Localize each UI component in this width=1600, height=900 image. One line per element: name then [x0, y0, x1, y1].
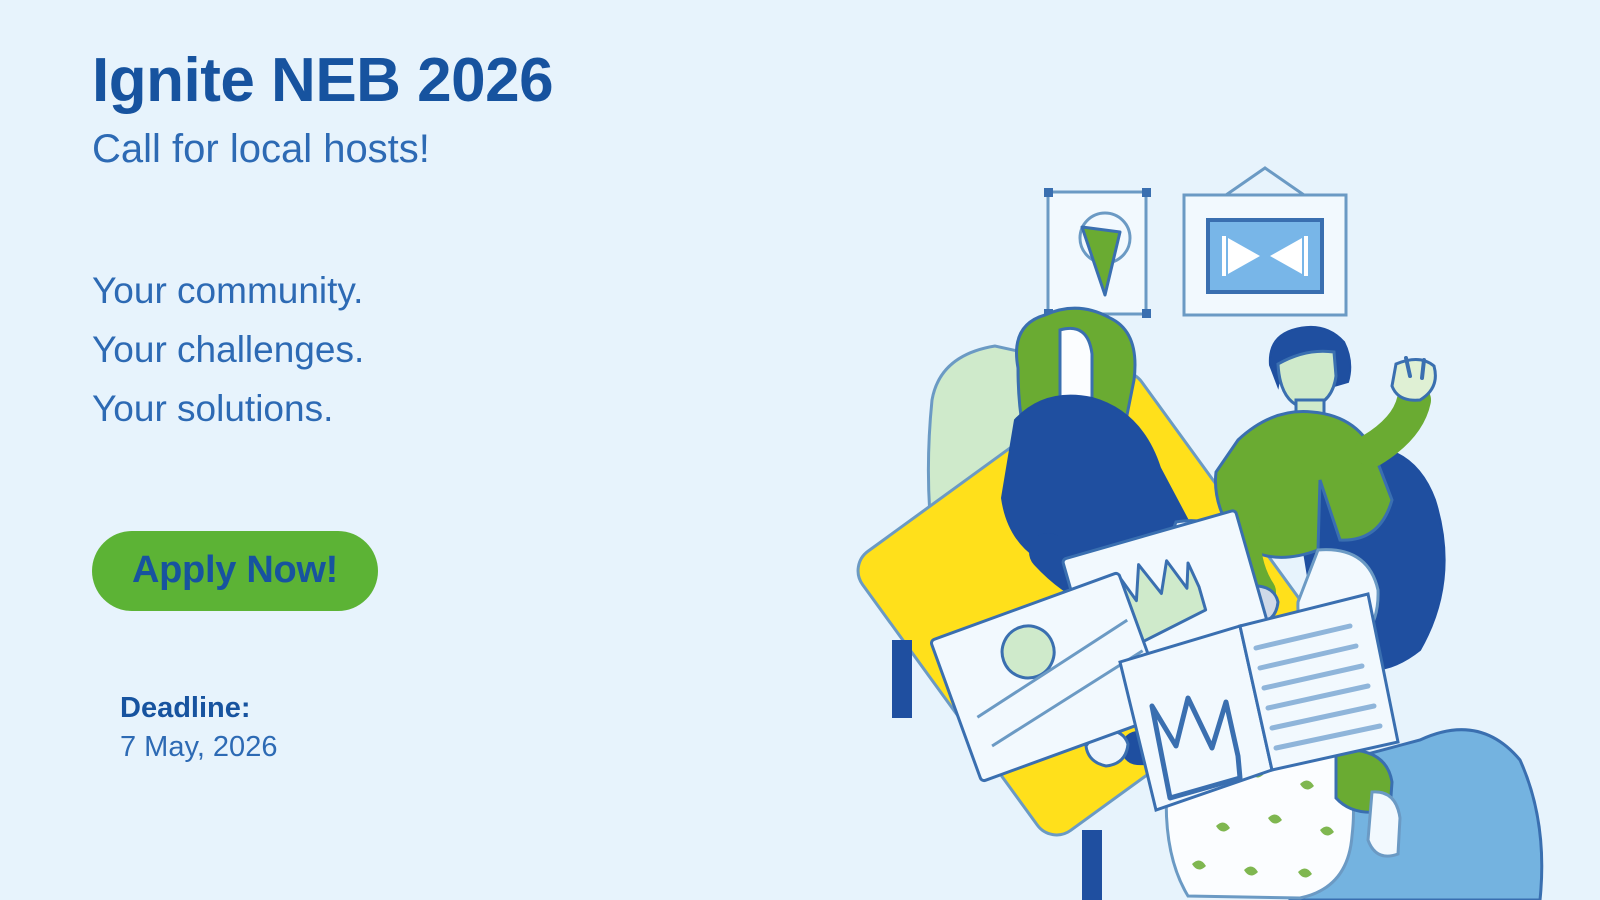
pinned-poster-icon — [1044, 188, 1151, 318]
tagline-line-3: Your solutions. — [92, 379, 792, 438]
deadline-label: Deadline: — [120, 689, 792, 728]
text-content-column: Ignite NEB 2026 Call for local hosts! Yo… — [92, 48, 792, 767]
table-leg-left — [892, 640, 912, 718]
deadline-date: 7 May, 2026 — [120, 728, 792, 767]
deadline-block: Deadline: 7 May, 2026 — [120, 689, 792, 767]
page-title: Ignite NEB 2026 — [92, 48, 792, 113]
tagline-line-2: Your challenges. — [92, 320, 792, 379]
illustration-people-collaborating — [820, 150, 1600, 900]
hanging-frame-icon — [1184, 168, 1346, 315]
page-subtitle: Call for local hosts! — [92, 127, 792, 171]
tagline-group: Your community. Your challenges. Your so… — [92, 261, 792, 439]
table-leg-front — [1082, 830, 1102, 900]
banner: Ignite NEB 2026 Call for local hosts! Yo… — [0, 0, 1600, 900]
apply-now-button[interactable]: Apply Now! — [92, 531, 378, 611]
tagline-line-1: Your community. — [92, 261, 792, 320]
cta-container: Apply Now! — [92, 531, 792, 611]
